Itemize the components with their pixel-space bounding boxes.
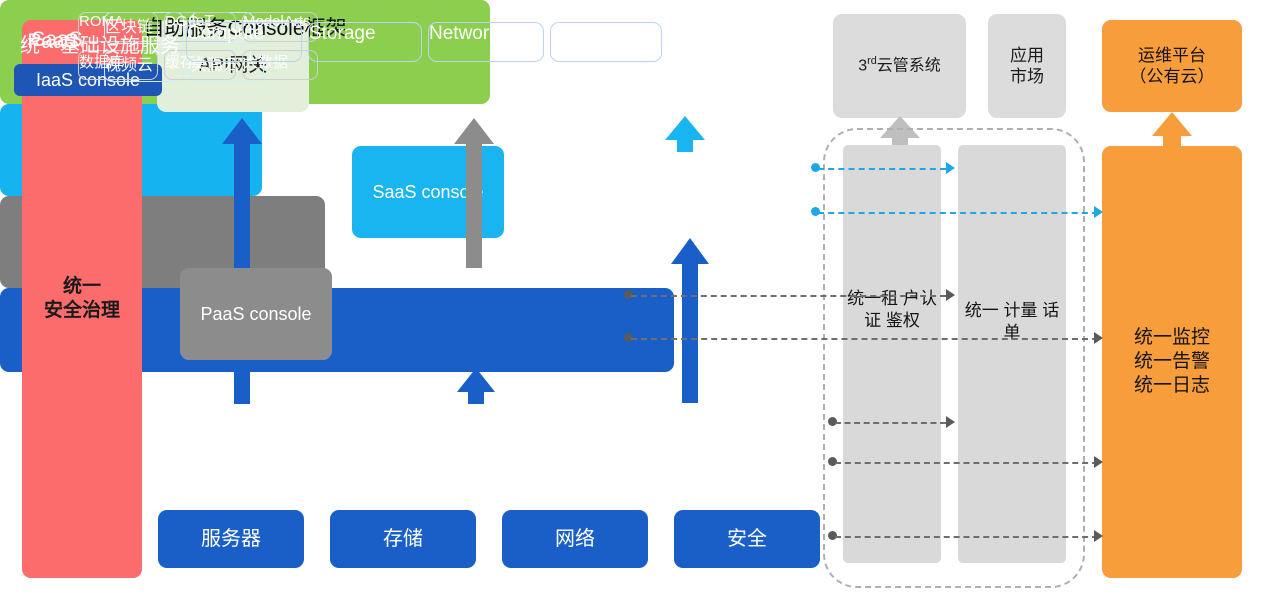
api-gateway-up-arrow-icon: [220, 118, 264, 404]
hardware-item-network[interactable]: 网络: [502, 510, 648, 568]
flow-line-saas-to-ops: [818, 212, 1098, 214]
flow-line-infra-to-ops: [835, 462, 1098, 464]
flow-arrowhead-saas-to-auth: [946, 162, 955, 174]
flow-line-saas-to-auth: [818, 168, 946, 170]
ops-platform-public-cloud-box[interactable]: 运维平台 （公有云）: [1102, 20, 1242, 112]
paas-to-console-up-arrow-icon: [452, 118, 496, 268]
ops-platform-public-cloud-label: 运维平台 （公有云）: [1130, 45, 1215, 88]
saas-to-console-up-arrow-icon: [663, 116, 707, 152]
infra-item-network[interactable]: Network: [428, 22, 544, 62]
hardware-item-server[interactable]: 服务器: [158, 510, 304, 568]
application-market-label: 应用 市场: [1010, 45, 1044, 88]
hardware-item-security[interactable]: 安全: [674, 510, 820, 568]
unified-security-governance-label: 统一 安全治理: [44, 275, 120, 323]
flow-arrowhead-paas-to-auth: [946, 289, 955, 301]
unified-metering-billing-column[interactable]: 统一 计量 话单: [958, 145, 1066, 563]
hardware-item-storage[interactable]: 存储: [330, 510, 476, 568]
flow-arrowhead-infra-to-auth: [946, 416, 955, 428]
infra-to-paas-up-arrow-icon: [455, 368, 497, 404]
third-party-superscript: rd: [867, 55, 877, 67]
infra-item-cce[interactable]: CCE: [550, 22, 662, 62]
flow-arrowhead-infra-to-ops: [1094, 456, 1103, 468]
unified-monitoring-alarm-log-box[interactable]: 统一监控 统一告警 统一日志: [1102, 146, 1242, 578]
flow-line-infra-to-auth: [835, 422, 946, 424]
flow-line-hardware-to-ops: [835, 536, 1098, 538]
unified-monitoring-alarm-log-label: 统一监控 统一告警 统一日志: [1134, 326, 1210, 397]
hardware-item-server-label: 服务器: [201, 527, 261, 552]
architecture-diagram: 统一 安全治理 API网关 自助服务Console框架 IaaS console…: [0, 0, 1265, 605]
hardware-item-storage-label: 存储: [383, 527, 423, 552]
flow-arrowhead-saas-to-ops: [1094, 206, 1103, 218]
hardware-item-security-label: 安全: [727, 527, 767, 552]
infra-item-compute[interactable]: Compute: [186, 22, 302, 62]
unified-infrastructure-service-label: 统一基础设施服务: [14, 29, 186, 58]
infra-to-saas-up-arrow-icon: [668, 238, 712, 403]
paas-console-button[interactable]: PaaS console: [180, 268, 332, 360]
hardware-item-network-label: 网络: [555, 527, 595, 552]
ops-body-to-ops-platform-up-arrow-icon: [1150, 112, 1194, 150]
application-market-box[interactable]: 应用 市场: [988, 14, 1066, 118]
infra-item-storage[interactable]: Storage: [308, 22, 422, 62]
flow-arrowhead-paas-to-ops: [1094, 332, 1103, 344]
flow-line-paas-to-ops: [631, 338, 1098, 340]
flow-arrowhead-hardware-to-ops: [1094, 530, 1103, 542]
unified-security-governance-pillar[interactable]: 统一 安全治理: [22, 20, 142, 578]
flow-line-paas-to-auth: [631, 295, 946, 297]
third-party-cloud-management-box[interactable]: 3rd云管系统: [833, 14, 966, 118]
third-party-cloud-management-label: 3rd云管系统: [858, 55, 941, 76]
unified-tenant-auth-column[interactable]: 统一租 户认证 鉴权: [843, 145, 941, 563]
